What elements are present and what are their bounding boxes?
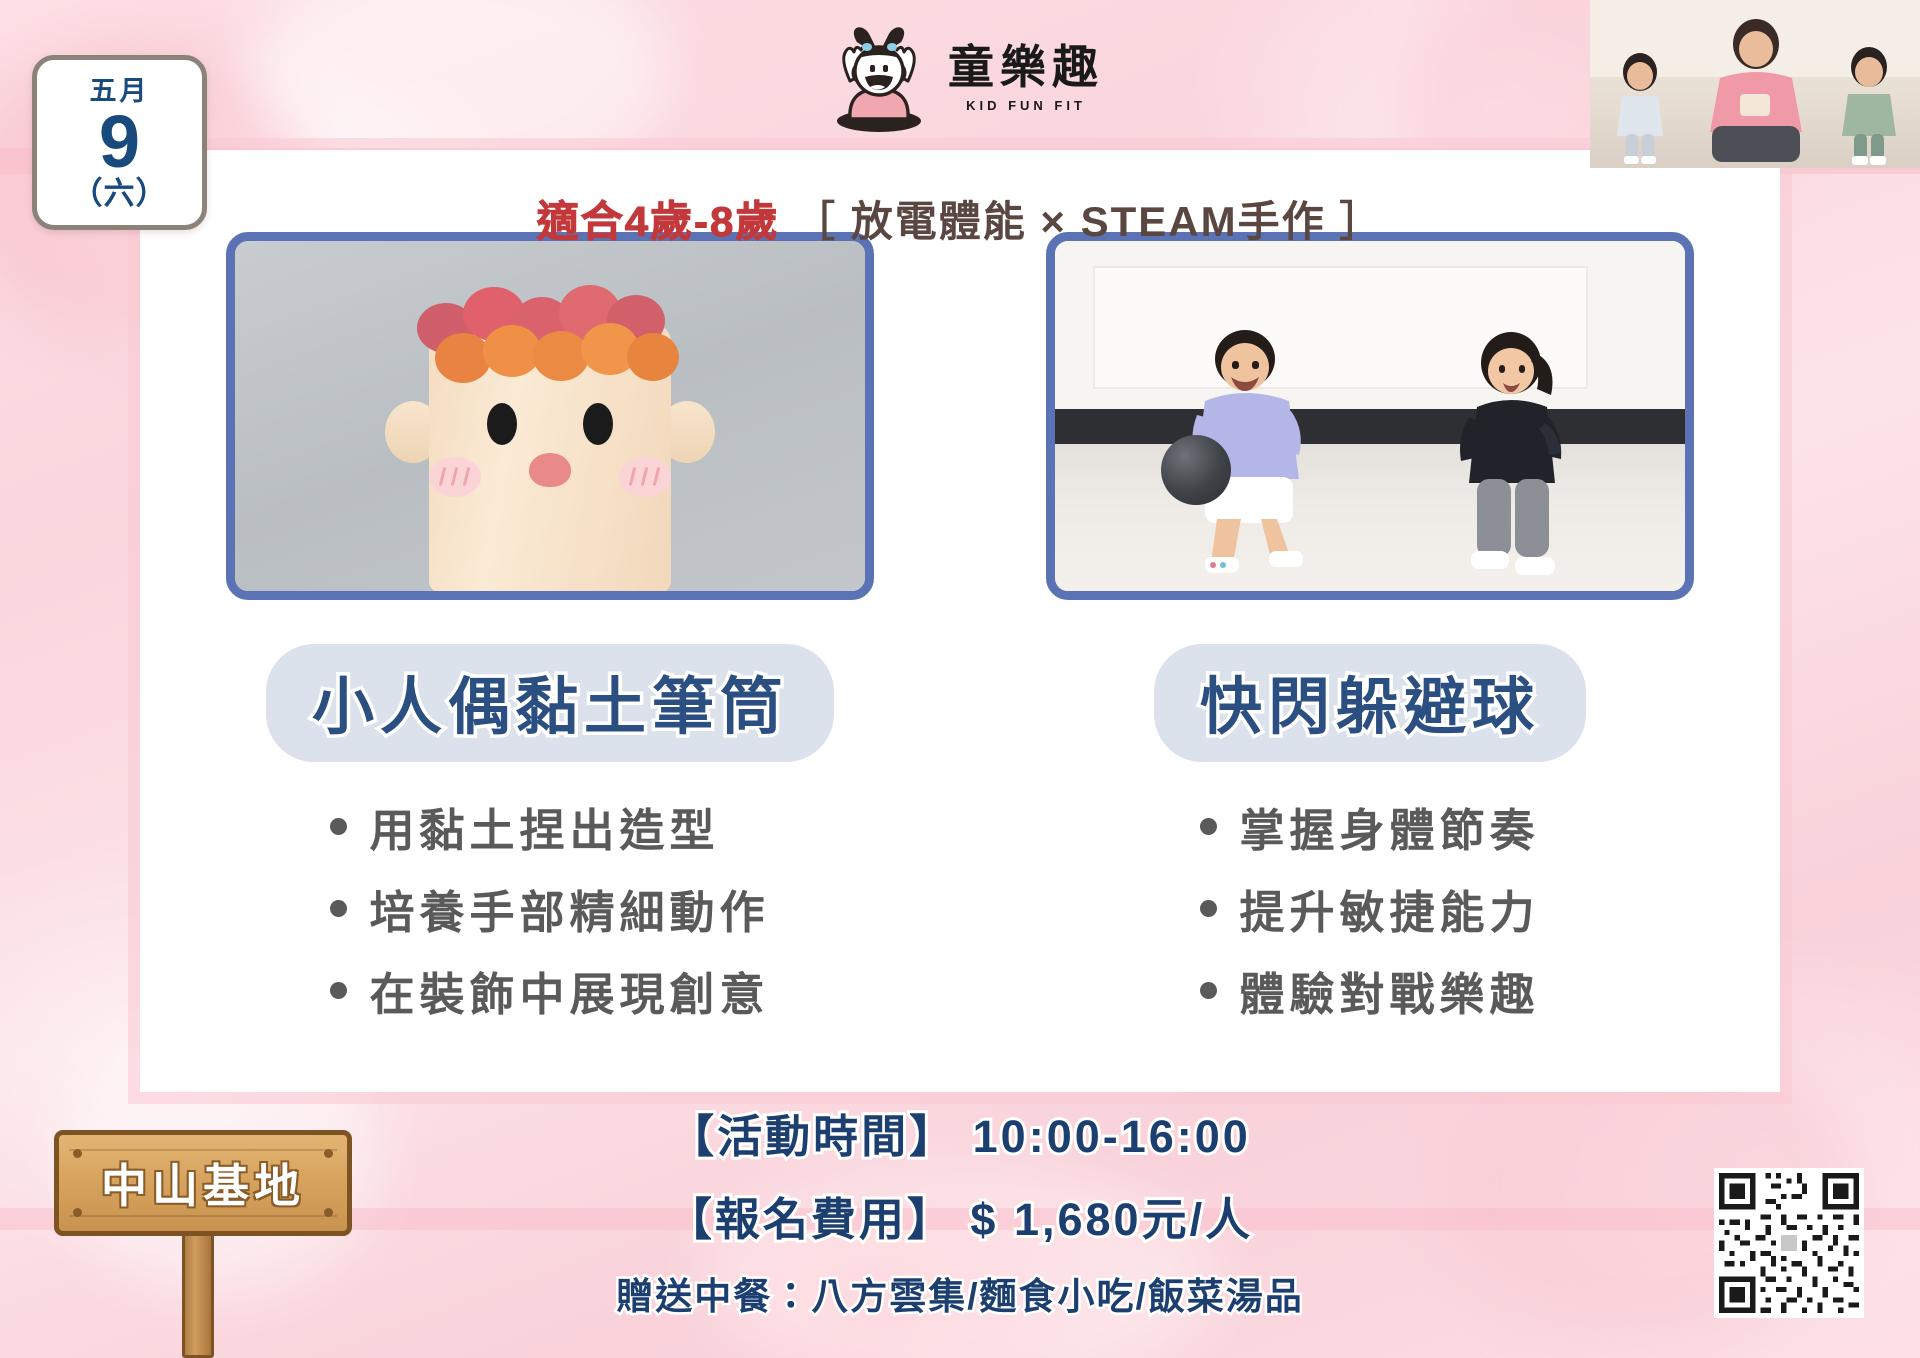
main-content-card: 小人偶黏土筆筒 用黏土捏出造型 培養手部精細動作 [140,150,1780,1092]
activity-title-dodgeball: 快閃躲避球 [1200,673,1540,742]
activity-column-clay: 小人偶黏土筆筒 用黏土捏出造型 培養手部精細動作 [140,232,960,1062]
qr-code[interactable] [1714,1168,1864,1318]
location-sign: 中山基地 [48,1108,348,1358]
banner-theme-text: ［ 放電體能 × STEAM手作 ］ [793,198,1383,245]
bullet-text: 掌握身體節奏 [1239,794,1539,859]
clay-hair-ball [483,325,541,377]
child-left-figure [1608,52,1672,164]
brand-name-cn: 童樂趣 [948,45,1104,91]
sign-plank: 中山基地 [54,1130,352,1236]
list-item: 在裝飾中展現創意 [330,958,769,1023]
dodgeball-icon [1161,435,1231,505]
banner-age-text: 適合4歲-8歲 [537,198,780,245]
cheek-line [653,467,661,486]
cheek-line [629,467,637,486]
header-banner: 適合4歲-8歲 ［ 放電體能 × STEAM手作 ］ [140,188,1780,249]
activity-columns: 小人偶黏土筆筒 用黏土捏出造型 培養手部精細動作 [140,232,1780,1062]
cheek-line [641,467,649,486]
date-badge: 五月 9 （六） [32,55,207,230]
bullet-dot-icon [330,900,347,917]
bullet-dot-icon [330,818,347,835]
cheek-line [451,467,459,486]
bullet-text: 用黏土捏出造型 [369,794,719,859]
clay-cheek-left [429,457,481,497]
bullet-text: 在裝飾中展現創意 [369,958,769,1023]
bullet-text: 體驗對戰樂趣 [1239,958,1539,1023]
clay-eye-left [487,403,517,445]
kids-playing-dodgeball-photo [1046,232,1694,600]
activity-title-pill-clay: 小人偶黏土筆筒 [266,644,834,762]
bullet-dot-icon [1200,900,1217,917]
date-day: 9 [99,107,140,177]
clay-hair-ball [435,333,491,383]
date-weekday: （六） [72,178,168,209]
sign-nail [73,1149,82,1158]
list-item: 掌握身體節奏 [1200,794,1539,859]
girl-figure [1453,331,1573,581]
activity-bullets-dodgeball: 掌握身體節奏 提升敏捷能力 體驗對戰樂趣 [1200,794,1539,1040]
activity-column-dodgeball: 快閃躲避球 掌握身體節奏 提升敏捷能力 體驗對戰樂 [960,232,1780,1062]
gym-wall-skirt [1055,409,1685,444]
bullet-dot-icon [1200,818,1217,835]
clay-hair-ball [533,331,589,381]
list-item: 提升敏捷能力 [1200,876,1539,941]
brand-logo: 童樂趣 KID FUN FIT [820,18,1120,138]
cheek-line [439,467,447,486]
list-item: 體驗對戰樂趣 [1200,958,1539,1023]
sign-nail [324,1208,333,1217]
bullet-dot-icon [1200,982,1217,999]
sign-nail [73,1208,82,1217]
clay-hair-ball [627,333,679,381]
sign-nail [324,1149,333,1158]
child-right-figure [1832,46,1906,166]
bullet-text: 培養手部精細動作 [369,876,769,941]
cheek-line [463,467,471,486]
clay-eye-right [583,403,613,445]
list-item: 用黏土捏出造型 [330,794,769,859]
clay-figure-pen-holder-photo [226,232,874,600]
adult-teacher-figure [1690,18,1822,168]
bullet-text: 提升敏捷能力 [1239,876,1539,941]
list-item: 培養手部精細動作 [330,876,769,941]
location-name: 中山基地 [101,1150,305,1216]
activity-bullets-clay: 用黏土捏出造型 培養手部精細動作 在裝飾中展現創意 [330,794,769,1040]
bullet-dot-icon [330,982,347,999]
activity-title-pill-dodgeball: 快閃躲避球 [1154,644,1586,762]
teacher-with-kids-photo [1590,0,1920,168]
poster-root: 五月 9 （六） 童樂趣 KID FUN FIT [0,0,1920,1358]
brand-name-en: KID FUN FIT [966,99,1086,112]
clay-cheek-right [619,457,671,497]
kid-mascot-icon [820,23,938,133]
activity-title-clay: 小人偶黏土筆筒 [312,673,788,742]
gym-floor [1055,444,1685,591]
clay-mouth [529,453,571,487]
brand-logo-text: 童樂趣 KID FUN FIT [948,45,1104,112]
